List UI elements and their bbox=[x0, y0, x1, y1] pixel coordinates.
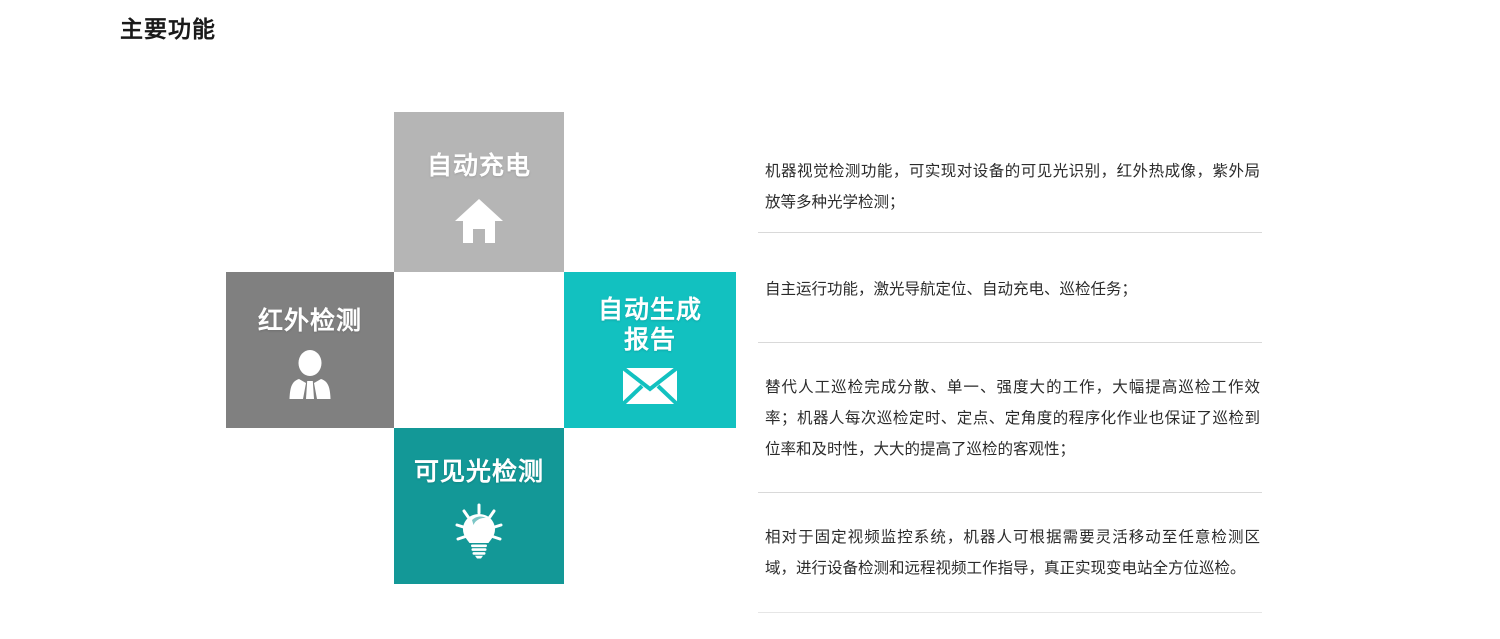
tile-auto-report[interactable]: 自动生成 报告 bbox=[564, 272, 736, 428]
description-text: 机器视觉检测功能，可实现对设备的可见光识别，红外热成像，紫外局放等多种光学检测； bbox=[758, 156, 1262, 218]
description-text: 替代人工巡检完成分散、单一、强度大的工作，大幅提高巡检工作效率；机器人每次巡检定… bbox=[758, 372, 1262, 465]
feature-description-list: 机器视觉检测功能，可实现对设备的可见光识别，红外热成像，紫外局放等多种光学检测；… bbox=[758, 140, 1262, 613]
description-text: 自主运行功能，激光导航定位、自动充电、巡检任务； bbox=[758, 274, 1262, 305]
tile-visible-light-label: 可见光检测 bbox=[414, 457, 544, 488]
description-item: 自主运行功能，激光导航定位、自动充电、巡检任务； bbox=[758, 233, 1262, 343]
lightbulb-icon bbox=[452, 503, 506, 559]
tile-auto-report-label: 自动生成 报告 bbox=[598, 295, 702, 356]
envelope-icon bbox=[622, 366, 678, 406]
tile-infrared[interactable]: 红外检测 bbox=[226, 272, 394, 428]
description-item: 相对于固定视频监控系统，机器人可根据需要灵活移动至任意检测区域，进行设备检测和远… bbox=[758, 493, 1262, 613]
feature-tile-grid: 自动充电 红外检测 自动生成 报告 bbox=[0, 0, 760, 639]
tile-visible-light[interactable]: 可见光检测 bbox=[394, 428, 564, 584]
home-icon bbox=[453, 197, 505, 245]
person-icon bbox=[288, 350, 332, 400]
tile-infrared-label: 红外检测 bbox=[258, 306, 362, 337]
tile-auto-charge[interactable]: 自动充电 bbox=[394, 112, 564, 272]
tile-auto-charge-label: 自动充电 bbox=[427, 151, 531, 182]
description-item: 替代人工巡检完成分散、单一、强度大的工作，大幅提高巡检工作效率；机器人每次巡检定… bbox=[758, 343, 1262, 493]
description-text: 相对于固定视频监控系统，机器人可根据需要灵活移动至任意检测区域，进行设备检测和远… bbox=[758, 522, 1262, 584]
description-item: 机器视觉检测功能，可实现对设备的可见光识别，红外热成像，紫外局放等多种光学检测； bbox=[758, 140, 1262, 233]
